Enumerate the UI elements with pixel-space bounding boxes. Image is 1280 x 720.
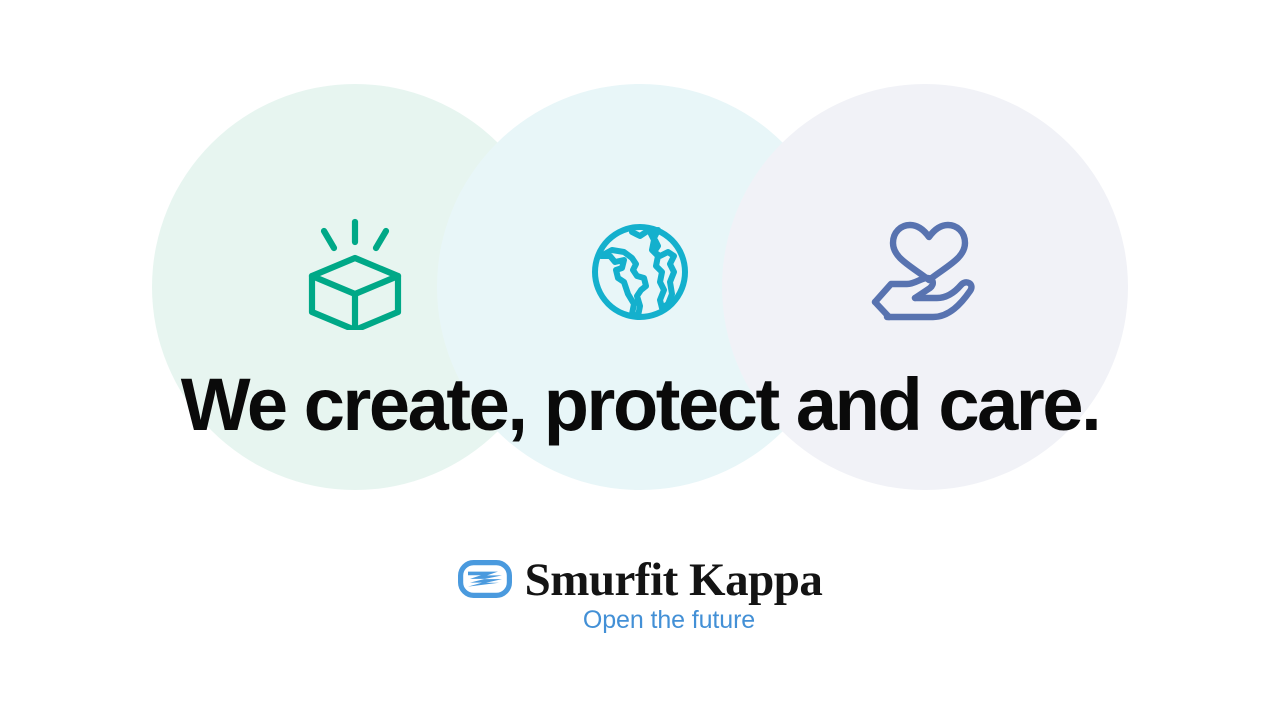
icon-slot-create <box>290 214 420 330</box>
logo-tagline: Open the future <box>583 605 755 635</box>
smurfit-kappa-logomark-icon <box>458 560 512 598</box>
logo-wordmark: Smurfit Kappa <box>525 557 823 604</box>
slide-canvas: We create, protect and care. Smurfit Kap… <box>0 0 1280 720</box>
page-title: We create, protect and care. <box>0 357 1280 453</box>
box-icon <box>297 214 413 330</box>
globe-icon <box>588 220 692 324</box>
hand-heart-icon <box>867 218 983 326</box>
icon-slot-care <box>860 214 990 330</box>
smurfit-kappa-logo: Smurfit Kappa Open the future <box>0 556 1280 635</box>
icon-slot-protect <box>575 214 705 330</box>
logo-lockup-main: Smurfit Kappa <box>458 556 823 602</box>
icon-row <box>0 214 1280 330</box>
